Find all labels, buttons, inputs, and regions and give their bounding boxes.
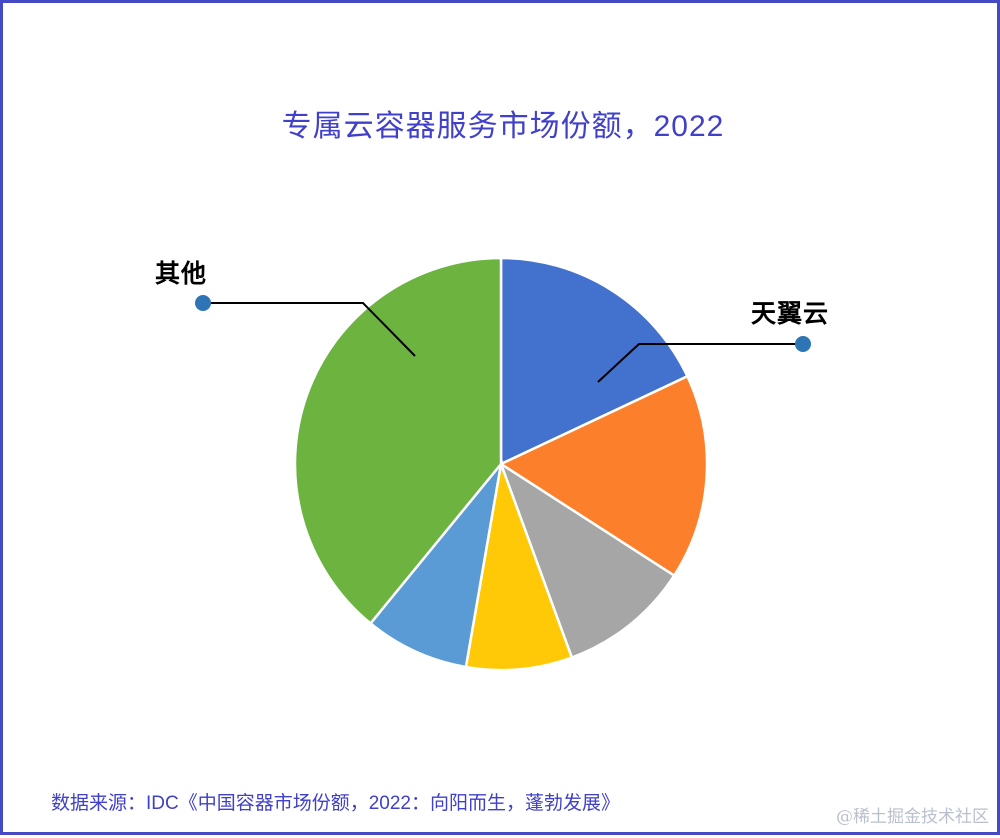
pie-label-tianyiyun: 天翼云 bbox=[751, 294, 829, 330]
pie-slices bbox=[295, 258, 707, 670]
pie-chart bbox=[3, 3, 1000, 838]
source-note: 数据来源：IDC《中国容器市场份额，2022：向阳而生，蓬勃发展》 bbox=[51, 788, 620, 815]
slide-canvas: 专属云容器服务市场份额，2022 其他 天翼云 数据来源：IDC《中国容器市场份… bbox=[0, 0, 1000, 835]
pie-label-other: 其他 bbox=[155, 254, 207, 290]
callout-dot-tianyiyun bbox=[795, 336, 811, 352]
watermark: @稀土掘金技术社区 bbox=[836, 802, 989, 827]
callout-dot-other bbox=[195, 295, 211, 311]
